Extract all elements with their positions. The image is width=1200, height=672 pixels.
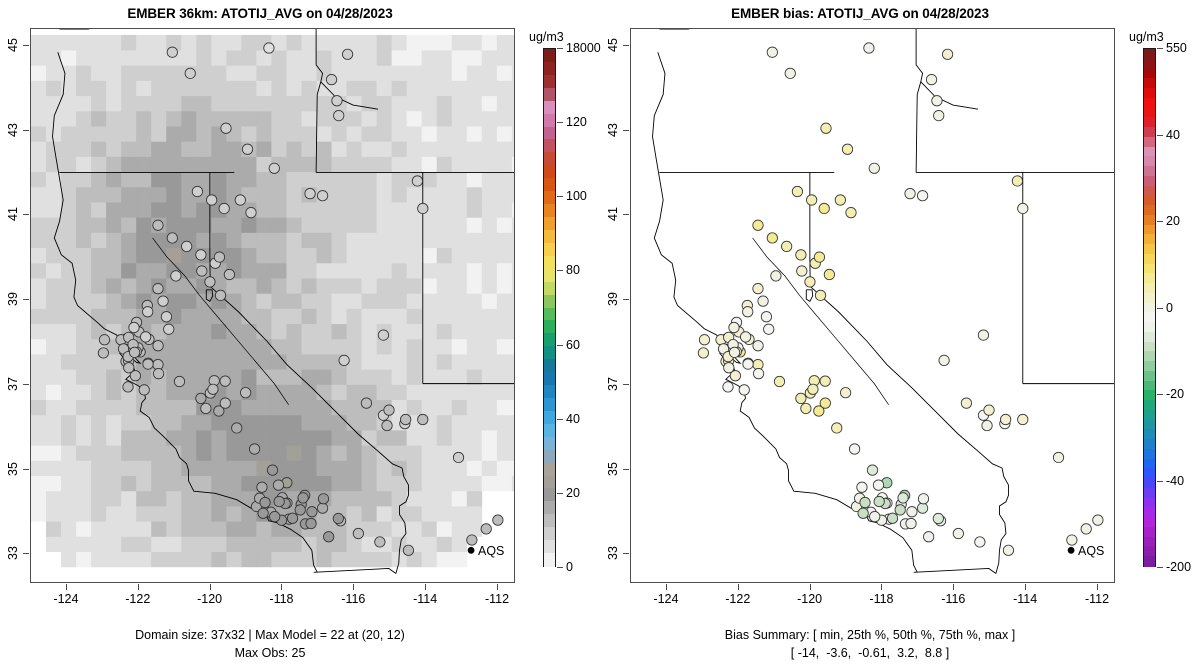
model-grid-cell <box>362 50 377 66</box>
model-grid-cell <box>76 506 91 522</box>
aqs-station-marker[interactable] <box>806 195 816 205</box>
aqs-station-marker[interactable] <box>153 341 163 351</box>
aqs-station-marker[interactable] <box>753 220 763 230</box>
model-grid-cell <box>181 293 196 309</box>
model-grid-cell <box>407 141 422 157</box>
aqs-station-marker[interactable] <box>729 347 739 357</box>
model-grid-cell <box>46 476 61 492</box>
model-grid-cell <box>286 536 301 552</box>
model-grid-cell <box>512 172 514 188</box>
model-grid-cell <box>256 96 271 112</box>
model-grid-cell <box>422 65 437 81</box>
aqs-station-marker[interactable] <box>493 515 503 525</box>
aqs-station-marker[interactable] <box>923 532 933 542</box>
aqs-station-marker[interactable] <box>753 341 763 351</box>
model-grid-cell <box>271 552 286 568</box>
aqs-station-marker[interactable] <box>1003 545 1013 555</box>
model-grid-cell <box>61 384 76 400</box>
aqs-station-marker[interactable] <box>984 405 994 415</box>
x-axis-tick-label: -124 <box>53 592 78 606</box>
aqs-station-marker[interactable] <box>895 505 905 515</box>
aqs-station-marker[interactable] <box>174 376 184 386</box>
model-grid-cell <box>256 111 271 127</box>
aqs-station-marker[interactable] <box>869 163 879 173</box>
aqs-station-marker[interactable] <box>240 388 250 398</box>
aqs-station-marker[interactable] <box>153 283 163 293</box>
aqs-station-marker[interactable] <box>269 163 279 173</box>
model-grid-cell <box>437 552 452 568</box>
model-grid-cell <box>271 202 286 218</box>
aqs-station-marker[interactable] <box>978 330 988 340</box>
aqs-station-marker[interactable] <box>167 233 177 243</box>
colorbar-tick <box>1157 394 1163 395</box>
aqs-station-marker[interactable] <box>867 465 877 475</box>
colorbar-tick <box>557 567 563 568</box>
colorbar-tick <box>557 419 563 420</box>
aqs-station-marker[interactable] <box>318 494 328 504</box>
aqs-station-marker[interactable] <box>306 518 316 528</box>
aqs-station-marker[interactable] <box>221 123 231 133</box>
aqs-station-marker[interactable] <box>743 359 753 369</box>
model-grid-cell <box>437 384 452 400</box>
model-grid-cell <box>241 536 256 552</box>
model-grid-cell <box>392 202 407 218</box>
aqs-station-marker[interactable] <box>161 312 171 322</box>
model-grid-cell <box>467 354 482 370</box>
aqs-station-marker[interactable] <box>242 144 252 154</box>
aqs-station-marker[interactable] <box>342 49 352 59</box>
model-grid-cell <box>226 35 241 51</box>
aqs-station-marker[interactable] <box>758 296 768 306</box>
aqs-station-marker[interactable] <box>898 493 908 503</box>
aqs-station-marker[interactable] <box>287 513 297 523</box>
aqs-station-marker[interactable] <box>264 43 274 53</box>
model-grid-cell <box>377 369 392 385</box>
aqs-station-marker[interactable] <box>767 233 777 243</box>
model-grid-cell <box>181 552 196 568</box>
y-axis-tick-label: 41 <box>606 207 620 221</box>
aqs-station-marker[interactable] <box>905 188 915 198</box>
model-grid-cell <box>241 293 256 309</box>
aqs-station-marker[interactable] <box>181 241 191 251</box>
aqs-station-marker[interactable] <box>857 482 867 492</box>
aqs-station-marker[interactable] <box>808 384 818 394</box>
aqs-station-marker[interactable] <box>220 376 230 386</box>
model-grid-cell <box>497 400 512 416</box>
aqs-station-marker[interactable] <box>849 444 859 454</box>
model-grid-cell <box>347 202 362 218</box>
aqs-station-marker[interactable] <box>206 195 216 205</box>
aqs-station-marker[interactable] <box>326 74 336 84</box>
model-grid-cell <box>121 35 136 51</box>
aqs-station-marker[interactable] <box>353 528 363 538</box>
aqs-station-marker[interactable] <box>840 388 850 398</box>
model-grid-cell <box>377 445 392 461</box>
map-plot-model[interactable]: AQS <box>30 28 515 583</box>
model-grid-cell <box>392 172 407 188</box>
aqs-station-marker[interactable] <box>99 335 109 345</box>
aqs-station-marker[interactable] <box>942 49 952 59</box>
aqs-station-marker[interactable] <box>124 363 134 373</box>
aqs-station-marker[interactable] <box>129 322 139 332</box>
model-grid-cell <box>377 308 392 324</box>
aqs-station-marker[interactable] <box>332 96 342 106</box>
aqs-station-marker[interactable] <box>982 420 992 430</box>
model-grid-cell <box>407 187 422 203</box>
aqs-station-marker[interactable] <box>214 252 224 262</box>
model-grid-cell <box>256 278 271 294</box>
model-grid-cell <box>332 263 347 279</box>
aqs-station-marker[interactable] <box>835 195 845 205</box>
aqs-station-marker[interactable] <box>232 423 242 433</box>
aqs-station-marker[interactable] <box>215 290 225 300</box>
aqs-station-marker[interactable] <box>467 535 477 545</box>
aqs-station-marker[interactable] <box>333 513 343 523</box>
aqs-station-marker[interactable] <box>1093 515 1103 525</box>
aqs-station-marker[interactable] <box>858 508 868 518</box>
aqs-station-marker[interactable] <box>796 250 806 260</box>
aqs-station-marker[interactable] <box>274 496 284 506</box>
colorbar-tick-label: -40 <box>1166 474 1184 488</box>
aqs-station-marker[interactable] <box>917 191 927 201</box>
model-grid-cell <box>151 141 166 157</box>
aqs-station-marker[interactable] <box>295 505 305 515</box>
aqs-station-marker[interactable] <box>953 528 963 538</box>
aqs-station-marker[interactable] <box>158 296 168 306</box>
model-grid-cell <box>467 187 482 203</box>
model-grid-cell <box>512 35 514 51</box>
model-grid-cell <box>31 476 46 492</box>
model-grid-cell <box>121 552 136 568</box>
model-grid-cell <box>181 445 196 461</box>
model-grid-cell <box>61 445 76 461</box>
model-grid-cell <box>151 126 166 142</box>
aqs-station-marker[interactable] <box>235 195 245 205</box>
model-grid-cell <box>166 491 181 507</box>
aqs-station-marker[interactable] <box>307 507 317 517</box>
aqs-station-marker[interactable] <box>260 497 270 507</box>
aqs-station-marker[interactable] <box>814 252 824 262</box>
aqs-station-marker[interactable] <box>975 537 985 547</box>
aqs-station-marker[interactable] <box>821 123 831 133</box>
aqs-station-marker[interactable] <box>384 405 394 415</box>
model-grid-cell <box>407 354 422 370</box>
aqs-station-marker[interactable] <box>196 393 206 403</box>
aqs-station-marker[interactable] <box>140 332 150 342</box>
aqs-station-marker[interactable] <box>1053 452 1063 462</box>
colorbar-segment <box>544 178 555 192</box>
aqs-station-marker[interactable] <box>164 324 174 334</box>
model-grid-cell <box>31 35 46 51</box>
aqs-station-marker[interactable] <box>832 423 842 433</box>
model-grid-cell <box>347 460 362 476</box>
aqs-station-marker[interactable] <box>842 144 852 154</box>
model-grid-cell <box>196 96 211 112</box>
aqs-station-marker[interactable] <box>785 68 795 78</box>
aqs-station-marker[interactable] <box>917 503 927 513</box>
aqs-station-marker[interactable] <box>382 420 392 430</box>
aqs-station-marker[interactable] <box>932 96 942 106</box>
aqs-station-marker[interactable] <box>873 480 883 490</box>
y-axis-tick <box>623 299 629 300</box>
aqs-station-marker[interactable] <box>1012 176 1022 186</box>
aqs-station-marker[interactable] <box>906 518 916 528</box>
aqs-station-marker[interactable] <box>418 203 428 213</box>
aqs-station-marker[interactable] <box>739 385 749 395</box>
model-grid-cell <box>211 308 226 324</box>
aqs-station-marker[interactable] <box>860 497 870 507</box>
model-grid-cell <box>106 400 121 416</box>
aqs-station-marker[interactable] <box>219 203 229 213</box>
model-grid-cell <box>422 369 437 385</box>
model-grid-cell <box>151 232 166 248</box>
model-grid-cell <box>31 217 46 233</box>
model-grid-cell <box>301 35 316 51</box>
model-grid-cell <box>407 339 422 355</box>
aqs-station-marker[interactable] <box>208 384 218 394</box>
model-grid-cell <box>392 50 407 66</box>
aqs-station-marker[interactable] <box>143 359 153 369</box>
model-grid-cell <box>467 400 482 416</box>
model-grid-cell <box>91 430 106 446</box>
aqs-station-marker[interactable] <box>185 68 195 78</box>
model-grid-cell <box>31 354 46 370</box>
aqs-station-marker[interactable] <box>412 176 422 186</box>
model-grid-cell <box>392 354 407 370</box>
aqs-station-marker[interactable] <box>961 398 971 408</box>
aqs-station-marker[interactable] <box>805 277 815 287</box>
model-grid-cell <box>377 172 392 188</box>
aqs-station-marker[interactable] <box>1067 535 1077 545</box>
model-grid-cell <box>256 65 271 81</box>
model-grid-cell <box>151 491 166 507</box>
aqs-station-marker[interactable] <box>220 398 230 408</box>
colorbar-segment <box>544 204 555 218</box>
model-grid-cell <box>422 96 437 112</box>
model-grid-cell <box>347 476 362 492</box>
model-grid-cell <box>91 476 106 492</box>
aqs-station-marker[interactable] <box>864 43 874 53</box>
aqs-station-marker[interactable] <box>270 511 280 521</box>
aqs-station-marker[interactable] <box>403 545 413 555</box>
map-outline-layer <box>653 29 1114 574</box>
aqs-station-marker[interactable] <box>729 322 739 332</box>
model-grid-cell <box>61 369 76 385</box>
aqs-station-marker[interactable] <box>418 414 428 424</box>
model-grid-cell <box>166 415 181 431</box>
aqs-station-marker[interactable] <box>481 524 491 534</box>
model-grid-cell <box>377 384 392 400</box>
aqs-station-marker[interactable] <box>846 207 856 217</box>
aqs-station-marker[interactable] <box>167 47 177 57</box>
model-grid-cell <box>211 65 226 81</box>
model-grid-cell <box>136 172 151 188</box>
y-axis-tick <box>23 469 29 470</box>
aqs-station-marker[interactable] <box>761 312 771 322</box>
aqs-station-marker[interactable] <box>820 376 830 386</box>
aqs-station-marker[interactable] <box>774 376 784 386</box>
model-grid-cell <box>377 476 392 492</box>
model-grid-cell <box>332 324 347 340</box>
model-grid-cell <box>76 536 91 552</box>
model-grid-cell <box>497 232 512 248</box>
aqs-station-marker[interactable] <box>934 110 944 120</box>
model-grid-cell <box>467 156 482 172</box>
aqs-station-marker[interactable] <box>771 271 781 281</box>
model-grid-cell <box>31 293 46 309</box>
model-grid-cell <box>106 476 121 492</box>
model-grid-cell <box>467 293 482 309</box>
aqs-station-marker[interactable] <box>797 266 807 276</box>
aqs-station-marker[interactable] <box>400 414 410 424</box>
model-grid-cell <box>136 536 151 552</box>
aqs-station-marker[interactable] <box>323 532 333 542</box>
model-grid-cell <box>332 415 347 431</box>
aqs-station-marker[interactable] <box>192 186 202 196</box>
aqs-station-layer[interactable] <box>698 43 1103 556</box>
aqs-station-marker[interactable] <box>171 271 181 281</box>
model-grid-cell <box>497 111 512 127</box>
aqs-station-marker[interactable] <box>339 355 349 365</box>
aqs-station-marker[interactable] <box>874 496 884 506</box>
model-grid-cell <box>467 278 482 294</box>
model-grid-cell <box>241 232 256 248</box>
model-grid-cell <box>46 536 61 552</box>
aqs-station-marker[interactable] <box>887 513 897 523</box>
model-grid-cell <box>482 248 497 264</box>
aqs-station-marker[interactable] <box>273 480 283 490</box>
aqs-station-marker[interactable] <box>249 444 259 454</box>
model-grid-cell <box>196 232 211 248</box>
aqs-station-marker[interactable] <box>317 191 327 201</box>
model-grid-cell <box>286 415 301 431</box>
model-grid-cell <box>362 278 377 294</box>
colorbar-tick <box>1157 135 1163 136</box>
aqs-station-marker[interactable] <box>258 508 268 518</box>
aqs-station-marker[interactable] <box>724 363 734 373</box>
aqs-station-marker[interactable] <box>453 452 463 462</box>
map-plot-bias[interactable]: AQS <box>630 28 1115 583</box>
aqs-station-marker[interactable] <box>197 266 207 276</box>
aqs-station-marker[interactable] <box>815 290 825 300</box>
x-axis-tick <box>281 584 282 590</box>
aqs-station-marker[interactable] <box>98 348 108 358</box>
aqs-station-marker[interactable] <box>699 335 709 345</box>
aqs-station-marker[interactable] <box>753 368 763 378</box>
model-grid-cell <box>106 354 121 370</box>
aqs-station-marker[interactable] <box>375 537 385 547</box>
aqs-station-marker[interactable] <box>907 507 917 517</box>
model-grid-cell <box>392 35 407 51</box>
model-grid-cell <box>347 384 362 400</box>
model-grid-cell <box>422 217 437 233</box>
aqs-station-marker[interactable] <box>918 494 928 504</box>
model-grid-cell <box>46 156 61 172</box>
aqs-station-marker[interactable] <box>820 398 830 408</box>
model-grid-cell <box>437 126 452 142</box>
aqs-station-marker[interactable] <box>870 511 880 521</box>
aqs-station-marker[interactable] <box>201 403 211 413</box>
aqs-station-marker[interactable] <box>153 220 163 230</box>
aqs-station-marker[interactable] <box>298 493 308 503</box>
aqs-station-marker[interactable] <box>723 382 733 392</box>
aqs-station-marker[interactable] <box>305 188 315 198</box>
aqs-station-marker[interactable] <box>205 277 215 287</box>
model-grid-cell <box>151 384 166 400</box>
aqs-station-marker[interactable] <box>819 203 829 213</box>
model-grid-cell <box>452 65 467 81</box>
colorbar-tick <box>557 196 563 197</box>
model-grid-cell <box>76 263 91 279</box>
aqs-station-marker[interactable] <box>753 283 763 293</box>
model-grid-cell <box>332 202 347 218</box>
aqs-station-marker[interactable] <box>129 347 139 357</box>
aqs-station-marker[interactable] <box>361 398 371 408</box>
aqs-station-marker[interactable] <box>743 307 753 317</box>
model-grid-cell <box>347 263 362 279</box>
aqs-station-marker[interactable] <box>317 503 327 513</box>
aqs-station-marker[interactable] <box>1018 414 1028 424</box>
model-grid-cell <box>467 35 482 51</box>
aqs-station-marker[interactable] <box>257 482 267 492</box>
aqs-station-marker[interactable] <box>926 74 936 84</box>
model-grid-cell <box>256 536 271 552</box>
aqs-station-marker[interactable] <box>824 269 834 279</box>
model-grid-cell <box>286 324 301 340</box>
aqs-station-marker[interactable] <box>153 368 163 378</box>
x-axis-tick <box>1025 584 1026 590</box>
aqs-station-marker[interactable] <box>939 355 949 365</box>
model-grid-cell <box>166 476 181 492</box>
aqs-station-marker[interactable] <box>781 241 791 251</box>
aqs-station-marker[interactable] <box>792 186 802 196</box>
model-grid-cell <box>106 35 121 51</box>
colorbar-segment <box>544 269 555 283</box>
aqs-station-marker[interactable] <box>698 348 708 358</box>
aqs-station-marker[interactable] <box>764 324 774 334</box>
model-grid-cell <box>392 248 407 264</box>
aqs-station-marker[interactable] <box>1081 524 1091 534</box>
model-grid-cell <box>106 506 121 522</box>
aqs-station-marker[interactable] <box>246 207 256 217</box>
aqs-station-marker[interactable] <box>334 110 344 120</box>
model-grid-cell <box>286 248 301 264</box>
aqs-station-marker[interactable] <box>378 330 388 340</box>
aqs-station-marker[interactable] <box>796 393 806 403</box>
aqs-station-marker[interactable] <box>123 382 133 392</box>
aqs-station-marker[interactable] <box>740 332 750 342</box>
model-grid-cell <box>437 369 452 385</box>
model-grid-cell <box>196 476 211 492</box>
colorbar-segment <box>544 256 555 270</box>
aqs-station-marker[interactable] <box>1018 203 1028 213</box>
aqs-station-marker[interactable] <box>196 250 206 260</box>
model-grid-cell <box>106 460 121 476</box>
model-grid-cell <box>226 141 241 157</box>
model-grid-cell <box>286 217 301 233</box>
aqs-station-marker[interactable] <box>767 47 777 57</box>
aqs-station-marker[interactable] <box>267 465 277 475</box>
model-grid-cell <box>407 111 422 127</box>
aqs-station-marker[interactable] <box>224 269 234 279</box>
aqs-station-marker[interactable] <box>801 403 811 413</box>
aqs-station-marker[interactable] <box>143 307 153 317</box>
aqs-station-marker[interactable] <box>1000 414 1010 424</box>
model-grid-cell <box>317 293 332 309</box>
aqs-station-marker[interactable] <box>139 385 149 395</box>
model-grid-cell <box>181 172 196 188</box>
aqs-station-marker[interactable] <box>933 513 943 523</box>
